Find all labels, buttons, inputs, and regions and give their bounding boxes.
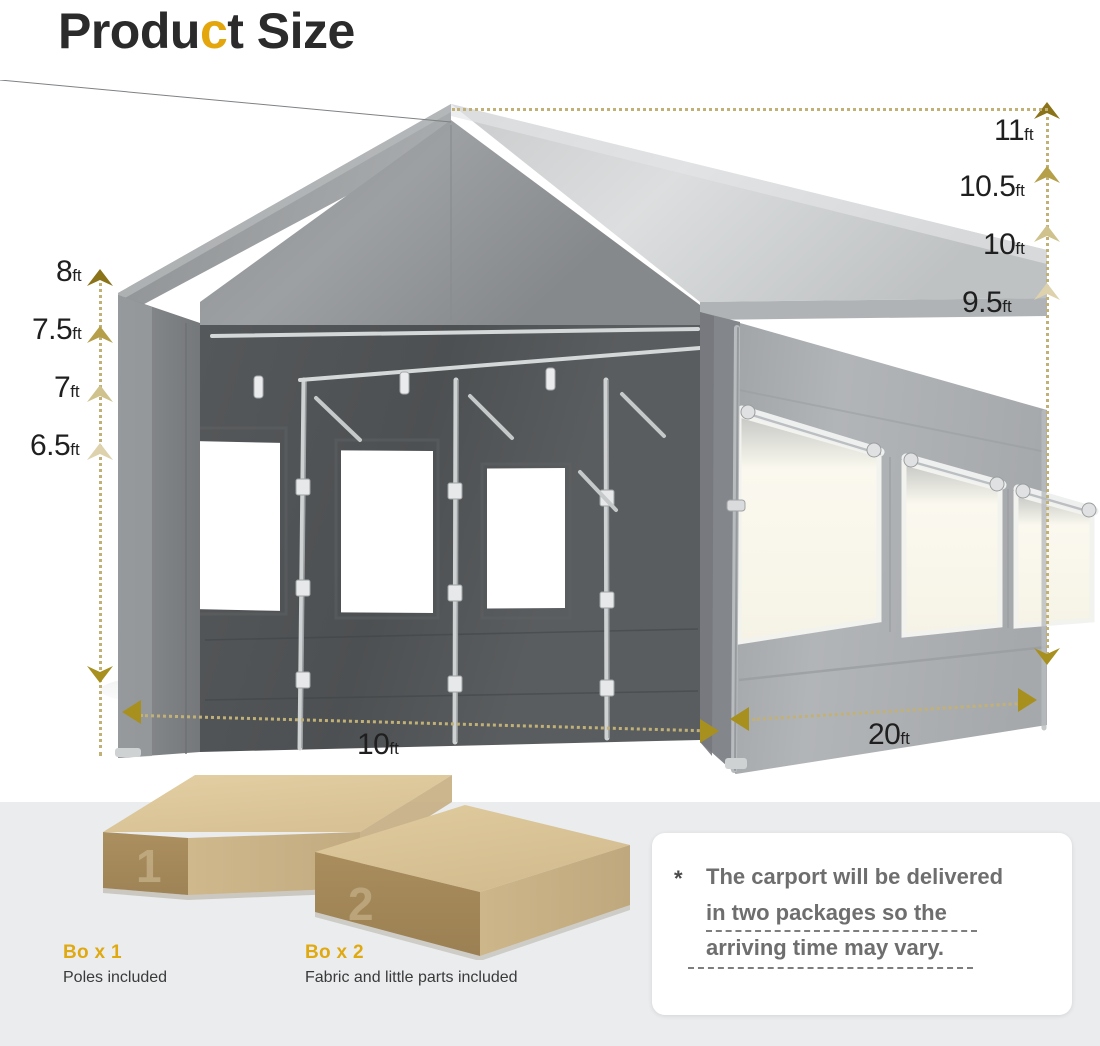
package-2-title: Bo x 2	[305, 942, 518, 964]
dimension-label-8ft: 8ft	[56, 257, 82, 287]
package-2-caption: Bo x 2 Fabric and little parts included	[305, 942, 518, 987]
dimension-unit: ft	[72, 324, 81, 343]
dimension-unit: ft	[389, 739, 398, 758]
dimension-unit: ft	[900, 729, 909, 748]
left-arrow-7ft	[87, 385, 113, 402]
asterisk-icon: *	[674, 861, 683, 897]
right-height-dimension-line	[1046, 110, 1049, 655]
carport-illustration	[0, 80, 1100, 805]
dimension-value: 7	[54, 371, 70, 404]
dimension-unit: ft	[1015, 181, 1024, 200]
dimension-value: 10	[983, 228, 1015, 261]
delivery-note-card: * The carport will be delivered in two p…	[652, 833, 1072, 1015]
dimension-label-10ft: 10ft	[983, 230, 1025, 260]
dimension-label-20ft-length: 20ft	[868, 720, 910, 750]
dimension-label-10ft-width: 10ft	[357, 730, 399, 760]
right-arrow-bottom	[1034, 648, 1060, 665]
left-arrow-7-5ft	[87, 326, 113, 343]
title-suffix: t Size	[227, 3, 355, 59]
note-line-1: The carport will be delivered	[706, 859, 1054, 895]
title-highlight-letter: c	[200, 3, 227, 59]
roof-top-reference-line	[452, 108, 1048, 111]
dimension-value: 10.5	[959, 170, 1015, 203]
delivery-note-text: * The carport will be delivered in two p…	[674, 859, 1054, 966]
dimension-label-7ft: 7ft	[54, 373, 80, 403]
note-lines: The carport will be delivered in two pac…	[706, 859, 1054, 966]
note-line-2: in two packages so the	[706, 895, 1054, 931]
dimension-unit: ft	[70, 382, 79, 401]
dimension-label-11ft: 11ft	[994, 116, 1034, 146]
dimension-label-9-5ft: 9.5ft	[962, 288, 1012, 318]
dimension-label-6-5ft: 6.5ft	[30, 431, 80, 461]
dimension-label-10-5ft: 10.5ft	[959, 172, 1025, 202]
width-arrow-left	[122, 700, 141, 724]
right-arrow-10ft	[1034, 225, 1060, 242]
dimension-value: 8	[56, 255, 72, 288]
carport-photo-area: 8ft 7.5ft 7ft 6.5ft 11ft	[0, 80, 1100, 805]
dimension-unit: ft	[1002, 297, 1011, 316]
dimension-value: 6.5	[30, 429, 70, 462]
dimension-value: 10	[357, 728, 389, 761]
dimension-unit: ft	[72, 266, 81, 285]
dimension-value: 9.5	[962, 286, 1002, 319]
dimension-label-7-5ft: 7.5ft	[32, 315, 82, 345]
dimension-value: 7.5	[32, 313, 72, 346]
title-prefix: Produ	[58, 3, 200, 59]
product-size-infographic: Product Size	[0, 0, 1100, 1046]
dimension-value: 11	[994, 114, 1024, 147]
package-boxes-illustration: 1 2 Bo x 1 Poles included Bo x 2 Fabric …	[60, 760, 660, 960]
left-arrow-6-5ft	[87, 443, 113, 460]
left-height-dimension-line	[99, 276, 102, 756]
left-arrow-8ft	[87, 269, 113, 286]
package-2-subtitle: Fabric and little parts included	[305, 969, 518, 987]
dimension-value: 20	[868, 718, 900, 751]
dimension-unit: ft	[1015, 239, 1024, 258]
right-arrow-10-5ft	[1034, 166, 1060, 183]
svg-text:1: 1	[136, 840, 162, 892]
length-arrow-left	[730, 707, 749, 731]
right-arrow-9-5ft	[1034, 283, 1060, 300]
left-arrow-bottom	[87, 666, 113, 683]
dimension-unit: ft	[70, 440, 79, 459]
note-line-3: arriving time may vary.	[706, 930, 1054, 966]
package-1-subtitle: Poles included	[63, 969, 167, 987]
width-arrow-right	[700, 719, 719, 743]
dimension-unit: ft	[1024, 125, 1033, 144]
page-title: Product Size	[58, 2, 355, 61]
length-arrow-right	[1018, 688, 1037, 712]
package-1-caption: Bo x 1 Poles included	[63, 942, 167, 987]
package-1-title: Bo x 1	[63, 942, 167, 964]
